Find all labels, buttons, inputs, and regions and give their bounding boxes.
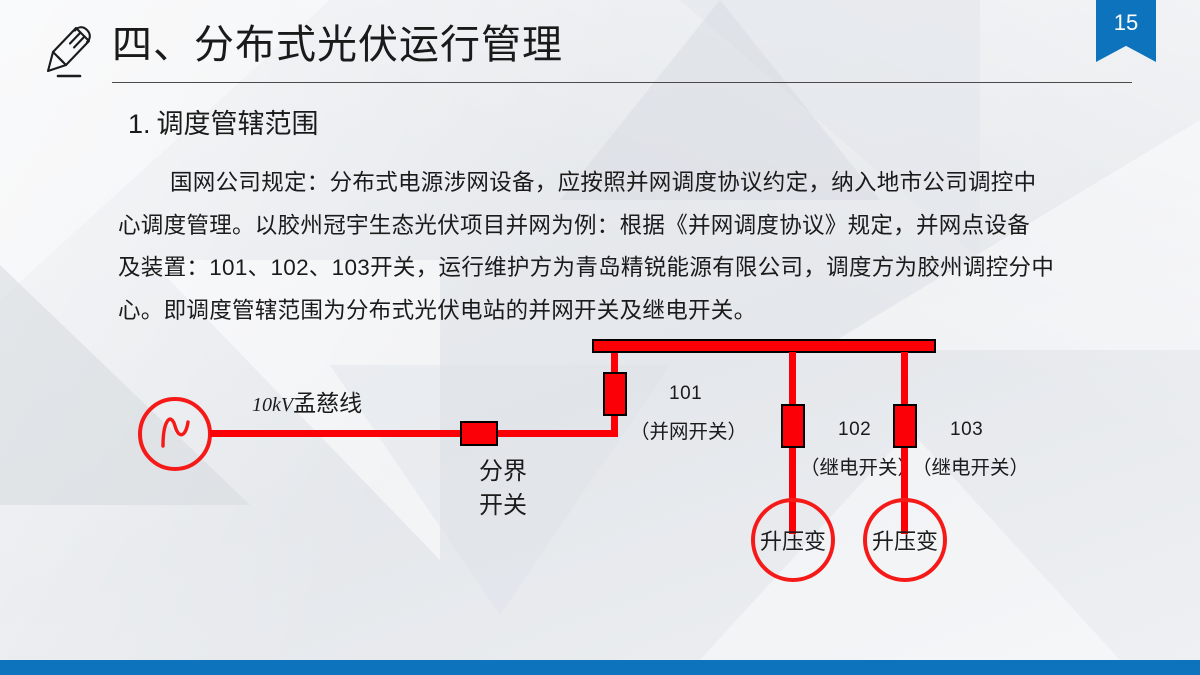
boundary-switch-label-line1: 分界: [443, 455, 563, 489]
switch-box-103: [893, 404, 917, 448]
switch-box-102: [781, 404, 805, 448]
switch-number-101: 101: [669, 383, 702, 405]
busbar: [592, 339, 936, 353]
sine-wave-icon: [145, 406, 205, 462]
switch-note-101: （并网开关）: [630, 415, 747, 444]
feeder-voltage-label: 10kV: [252, 394, 293, 416]
switch-note-103: （继电开关）: [912, 451, 1029, 480]
feeder-line: [210, 430, 618, 437]
transformer-label: 升压变: [872, 524, 938, 556]
switch-number-103: 103: [950, 419, 983, 441]
boundary-switch-box: [460, 421, 498, 446]
boundary-switch-label-line2: 开关: [443, 489, 563, 523]
footer-bar: [0, 660, 1200, 675]
boundary-switch-label: 分界 开关: [443, 455, 563, 523]
feeder-name-label: 孟慈线: [293, 390, 362, 416]
step-up-transformer-102: 升压变: [751, 498, 835, 582]
transformer-label: 升压变: [760, 524, 826, 556]
feeder-line-label: 10kV孟慈线: [252, 384, 362, 418]
single-line-diagram: 分界 开关 10kV孟慈线 101 （并网开关） 102 （继电开关） 升压变 …: [0, 0, 1200, 675]
slide-canvas: 15 四、分布式光伏运行管理 1.调度管辖范围 国网公司规定：分布式电源涉网设备…: [0, 0, 1200, 675]
switch-note-102: （继电开关）: [800, 451, 917, 480]
step-up-transformer-103: 升压变: [863, 498, 947, 582]
ac-source-symbol: [138, 397, 212, 471]
switch-box-101: [603, 372, 627, 416]
switch-number-102: 102: [838, 419, 871, 441]
